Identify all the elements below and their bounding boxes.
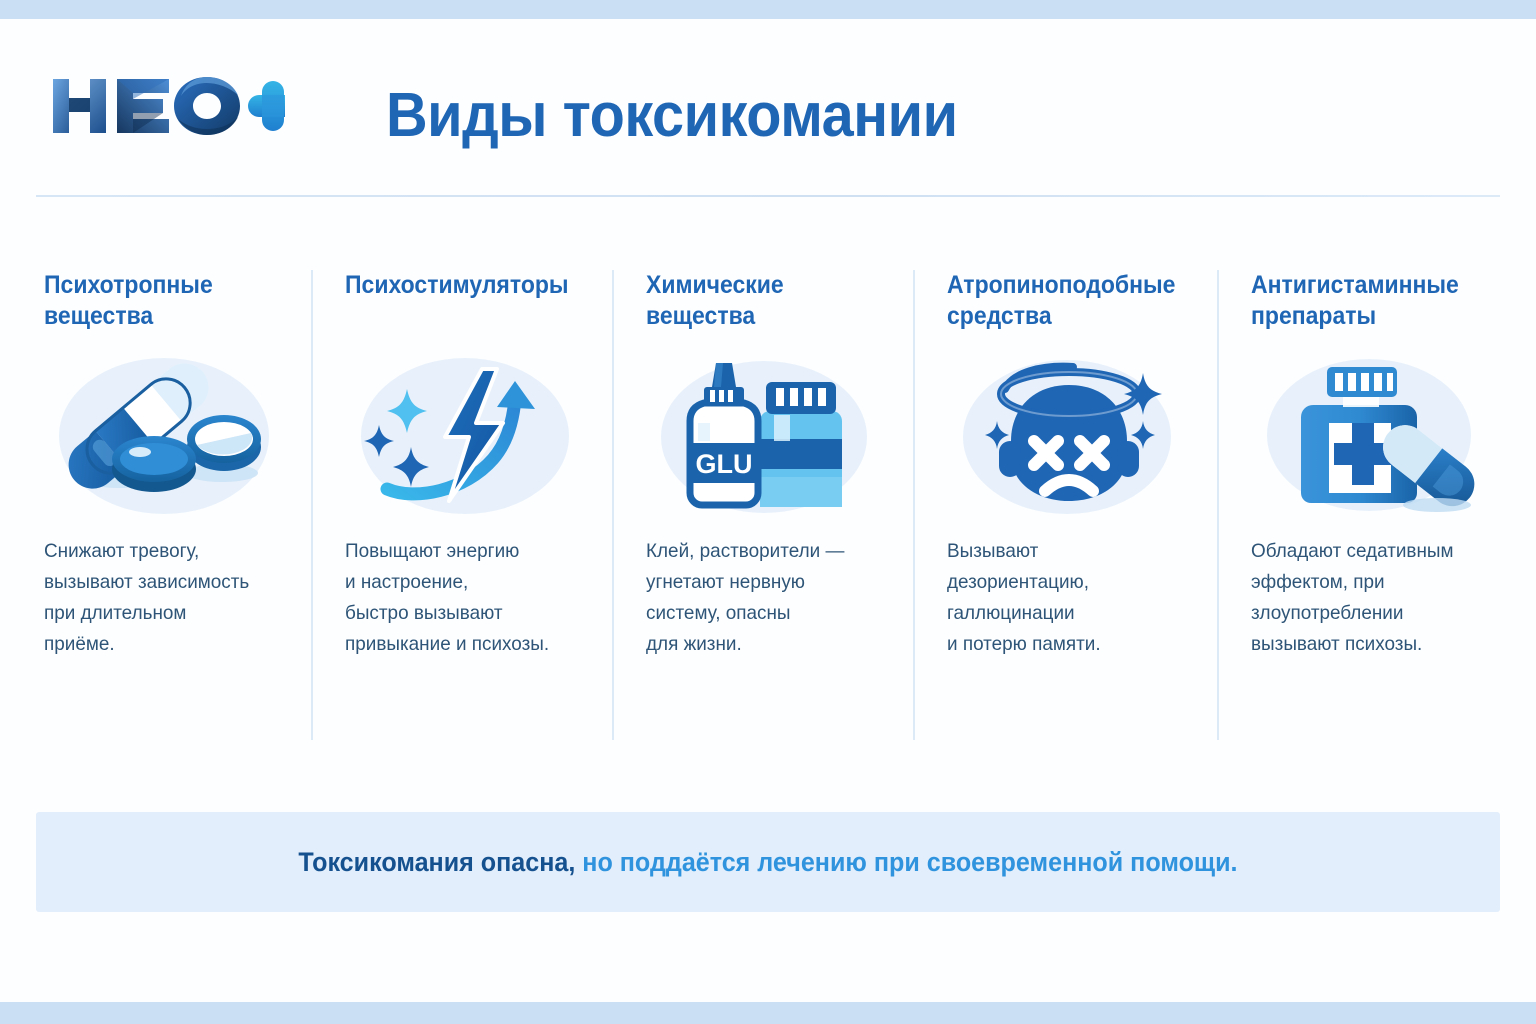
glue-label: GLU xyxy=(696,449,753,479)
category-description: Обладают седативным эффектом, при злоупо… xyxy=(1251,536,1489,660)
lightning-bolt-arrow-icon xyxy=(345,350,590,522)
header-divider xyxy=(36,195,1500,197)
category-column-antihistamine: Антигистаминные препараты xyxy=(1217,270,1518,740)
footer-strong-text: Токсикомания опасна, xyxy=(298,847,575,877)
category-columns: Психотропные вещества xyxy=(36,270,1500,740)
dizzy-face-icon xyxy=(947,350,1195,522)
category-title: Психотропные вещества xyxy=(44,270,269,334)
medicine-bottle-capsule-icon xyxy=(1251,350,1496,522)
neo-plus-logo xyxy=(45,71,285,139)
header: Виды токсикомании xyxy=(0,19,1536,191)
pills-capsule-icon xyxy=(44,350,289,522)
bottom-decorative-band xyxy=(0,1002,1536,1024)
footer-banner: Токсикомания опасна, но поддаётся лечени… xyxy=(36,812,1500,912)
infographic-page: Виды токсикомании Психотропные вещества xyxy=(0,0,1536,1024)
top-decorative-band xyxy=(0,0,1536,19)
category-description: Снижают тревогу, вызывают зависимость пр… xyxy=(44,536,282,660)
glue-solvent-bottles-icon: GLU xyxy=(646,350,891,522)
category-description: Клей, растворители — угнетают нервную си… xyxy=(646,536,884,660)
category-column-atropine-like: Атропиноподобные средства xyxy=(913,270,1217,740)
category-title: Химические вещества xyxy=(646,270,871,334)
category-description: Вызывают дезориентацию, галлюцинации и п… xyxy=(947,536,1188,660)
footer-light-text: но поддаётся лечению при своевременной п… xyxy=(575,847,1237,877)
category-column-psychostimulants: Психостимуляторы xyxy=(311,270,612,740)
category-column-chemical: Химические вещества xyxy=(612,270,913,740)
category-title: Психостимуляторы xyxy=(345,270,570,334)
footer-message: Токсикомания опасна, но поддаётся лечени… xyxy=(298,845,1237,879)
category-title: Атропиноподобные средства xyxy=(947,270,1175,334)
category-description: Повыщают энергию и настроение, быстро вы… xyxy=(345,536,583,660)
category-column-psychotropic: Психотропные вещества xyxy=(36,270,311,740)
page-title: Виды токсикомании xyxy=(386,77,958,155)
category-title: Антигистаминные препараты xyxy=(1251,270,1476,334)
